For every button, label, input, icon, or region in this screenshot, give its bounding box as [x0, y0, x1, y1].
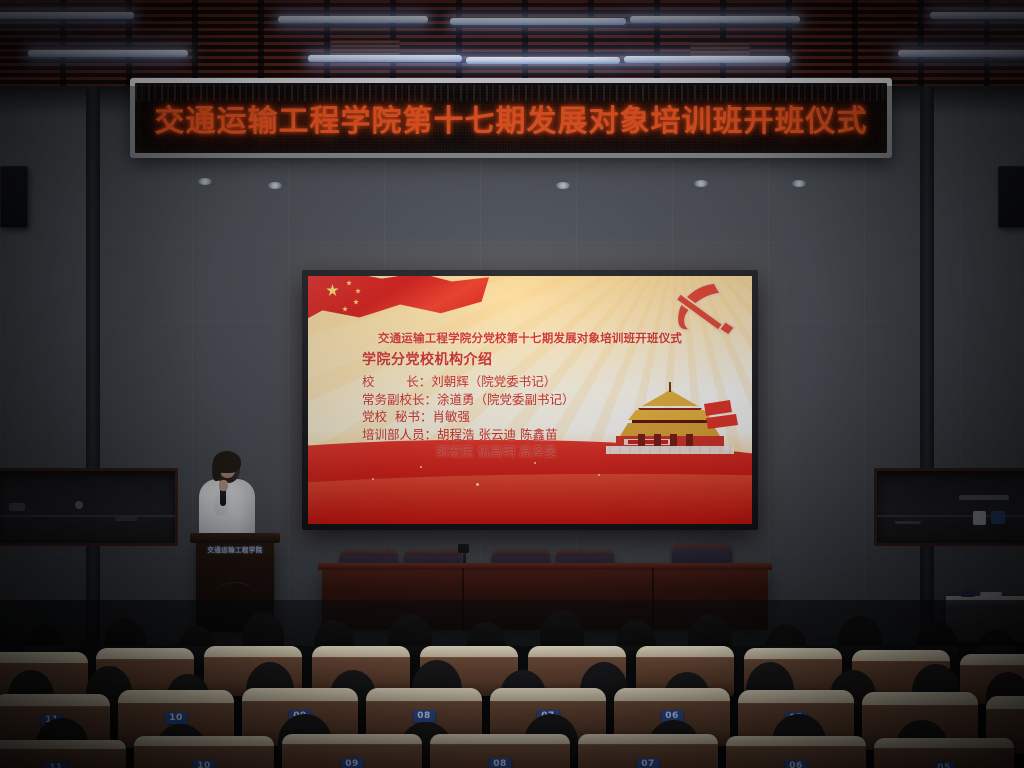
wall-vignette [0, 86, 1024, 646]
seat-headrest [636, 646, 734, 657]
seat-headrest [0, 652, 88, 663]
seat-headrest [134, 736, 274, 746]
seat-number: 07 [637, 758, 659, 768]
seat-09-front[interactable]: 09 [282, 734, 422, 768]
seat-05-front[interactable]: 05 [874, 738, 1014, 768]
seat-headrest [614, 688, 730, 701]
seat-headrest [986, 696, 1024, 709]
seat-number: 10 [193, 760, 215, 768]
seat-07-front[interactable]: 07 [578, 734, 718, 768]
seat-number: 08 [413, 710, 435, 722]
seat-headrest [0, 740, 126, 749]
seat-headrest [282, 734, 422, 744]
seat-headrest [852, 650, 950, 661]
seat-11-front[interactable]: 11 [0, 740, 126, 768]
seat-number: 05 [933, 762, 955, 768]
seat-08-front[interactable]: 08 [430, 734, 570, 768]
seat-headrest [430, 734, 570, 744]
auditorium-scene: 交通运输工程学院第十七期发展对象培训班开班仪式 [0, 0, 1024, 768]
seat-headrest [366, 688, 482, 701]
seat-number: 08 [489, 758, 511, 768]
seat-headrest [204, 646, 302, 657]
seat-number: 10 [165, 712, 187, 724]
seat-number: 09 [341, 758, 363, 768]
seat-headrest [862, 692, 978, 705]
seat-headrest [490, 688, 606, 701]
seat-06-front[interactable]: 06 [726, 736, 866, 768]
seat-headrest [118, 690, 234, 703]
seat-headrest [0, 694, 110, 706]
seat-headrest [528, 646, 626, 657]
seat-headrest [578, 734, 718, 744]
seat-number: 11 [45, 762, 67, 768]
seat-headrest [242, 688, 358, 701]
seat-headrest [744, 648, 842, 659]
seat-headrest [96, 648, 194, 659]
seat-headrest [960, 654, 1024, 665]
seat-headrest [738, 690, 854, 703]
seat-headrest [420, 646, 518, 657]
seat-headrest [726, 736, 866, 746]
seat-number: 06 [785, 760, 807, 768]
seat-headrest [312, 646, 410, 657]
seat-headrest [874, 738, 1014, 748]
seat-10-front[interactable]: 10 [134, 736, 274, 768]
